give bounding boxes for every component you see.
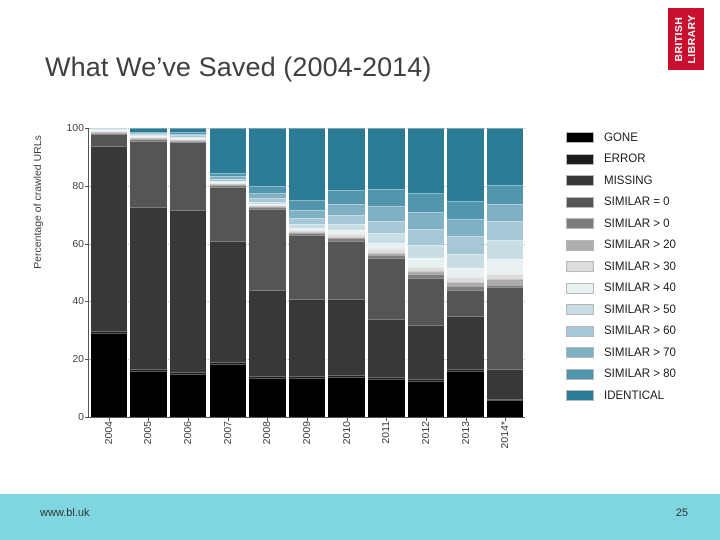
bar-column[interactable]: 2007	[208, 128, 248, 417]
bar-segment[interactable]	[408, 245, 444, 258]
legend-label: SIMILAR > 0	[604, 218, 670, 230]
stacked-bar-chart: Percentage of crawled URLs 020406080100 …	[0, 0, 720, 480]
legend-swatch	[566, 154, 594, 165]
legend-swatch	[566, 347, 594, 358]
bar-segment[interactable]	[408, 193, 444, 212]
bar-segment[interactable]	[289, 378, 325, 417]
legend-item[interactable]: ERROR	[566, 149, 676, 171]
stacked-bar[interactable]	[328, 128, 364, 417]
bar-segment[interactable]	[447, 316, 483, 369]
bar-segment[interactable]	[487, 185, 523, 203]
stacked-bar[interactable]	[368, 128, 404, 417]
legend-label: SIMILAR > 60	[604, 325, 676, 337]
footer-page-number: 25	[676, 507, 688, 519]
legend-item[interactable]: SIMILAR > 0	[566, 213, 676, 235]
y-tick-label: 20	[72, 353, 84, 365]
bar-segment[interactable]	[408, 258, 444, 267]
legend-item[interactable]: SIMILAR > 30	[566, 256, 676, 278]
bar-segment[interactable]	[210, 187, 246, 242]
bar-segment[interactable]	[368, 319, 404, 377]
legend-item[interactable]: SIMILAR > 20	[566, 235, 676, 257]
bar-column[interactable]: 2004	[89, 128, 129, 417]
bar-segment[interactable]	[91, 333, 127, 417]
bar-segment[interactable]	[170, 142, 206, 210]
legend-swatch	[566, 132, 594, 143]
bar-segment[interactable]	[289, 299, 325, 376]
bar-segment[interactable]	[328, 190, 364, 204]
bar-segment[interactable]	[447, 128, 483, 201]
bar-segment[interactable]	[328, 241, 364, 299]
bar-segment[interactable]	[91, 146, 127, 331]
bar-segment[interactable]	[368, 189, 404, 206]
bar-segment[interactable]	[487, 128, 523, 185]
stacked-bar[interactable]	[447, 128, 483, 417]
bar-column[interactable]: 2014*	[485, 128, 525, 417]
bar-segment[interactable]	[368, 258, 404, 319]
legend-item[interactable]: SIMILAR > 60	[566, 321, 676, 343]
bar-segment[interactable]	[408, 229, 444, 245]
bar-segment[interactable]	[289, 235, 325, 299]
bar-segment[interactable]	[487, 369, 523, 398]
bar-column[interactable]: 2006	[168, 128, 208, 417]
legend-item[interactable]: SIMILAR > 40	[566, 278, 676, 300]
bar-segment[interactable]	[91, 134, 127, 146]
legend-item[interactable]: MISSING	[566, 170, 676, 192]
legend-swatch	[566, 240, 594, 251]
bar-segment[interactable]	[447, 254, 483, 268]
bar-column[interactable]: 2008	[248, 128, 288, 417]
bar-segment[interactable]	[249, 128, 285, 186]
legend-label: SIMILAR > 70	[604, 347, 676, 359]
x-tick-label: 2008	[261, 421, 273, 444]
bar-segment[interactable]	[487, 287, 523, 369]
legend-label: SIMILAR > 50	[604, 304, 676, 316]
legend-item[interactable]: IDENTICAL	[566, 385, 676, 407]
bar-segment[interactable]	[328, 204, 364, 216]
bar-segment[interactable]	[249, 209, 285, 290]
bar-segment[interactable]	[447, 219, 483, 236]
bar-segment[interactable]	[328, 215, 364, 224]
bar-column[interactable]: 2013	[446, 128, 486, 417]
x-tick-label: 2004	[103, 421, 115, 444]
bar-segment[interactable]	[289, 128, 325, 199]
bar-segment[interactable]	[447, 371, 483, 417]
legend-label: SIMILAR > 30	[604, 261, 676, 273]
stacked-bar[interactable]	[408, 128, 444, 417]
legend-label: GONE	[604, 132, 638, 144]
bar-segment[interactable]	[408, 212, 444, 229]
footer-bar: www.bl.uk 25	[0, 494, 720, 540]
stacked-bar[interactable]	[249, 128, 285, 417]
bar-segment[interactable]	[487, 240, 523, 260]
bar-segment[interactable]	[408, 325, 444, 379]
bar-column[interactable]: 2011	[366, 128, 406, 417]
bar-segment[interactable]	[328, 377, 364, 417]
legend-label: IDENTICAL	[604, 390, 664, 402]
stacked-bar[interactable]	[170, 128, 206, 417]
bar-segment[interactable]	[447, 236, 483, 253]
legend-swatch	[566, 261, 594, 272]
bar-group: 2004200520062007200820092010201120122013…	[89, 128, 525, 417]
bar-segment[interactable]	[289, 210, 325, 218]
legend-item[interactable]: GONE	[566, 127, 676, 149]
stacked-bar[interactable]	[289, 128, 325, 417]
bar-segment[interactable]	[447, 268, 483, 277]
x-tick-label: 2012	[420, 421, 432, 444]
legend-label: SIMILAR > 80	[604, 368, 676, 380]
y-axis-label: Percentage of crawled URLs	[32, 102, 44, 302]
bar-segment[interactable]	[487, 259, 523, 274]
x-tick-label: 2005	[142, 421, 154, 444]
x-tick-label: 2014*	[499, 421, 511, 448]
bar-segment[interactable]	[408, 128, 444, 193]
bar-column[interactable]: 2012	[406, 128, 446, 417]
footer-url[interactable]: www.bl.uk	[40, 507, 90, 519]
legend-item[interactable]: SIMILAR > 50	[566, 299, 676, 321]
bar-segment[interactable]	[328, 299, 364, 375]
legend-label: MISSING	[604, 175, 653, 187]
y-tick-label: 100	[66, 122, 84, 134]
bar-segment[interactable]	[249, 378, 285, 417]
bar-segment[interactable]	[447, 290, 483, 316]
bar-column[interactable]: 2005	[129, 128, 169, 417]
stacked-bar[interactable]	[487, 128, 523, 417]
legend-swatch	[566, 218, 594, 229]
bar-segment[interactable]	[170, 210, 206, 372]
x-tick-label: 2007	[222, 421, 234, 444]
y-tick-label: 0	[78, 411, 84, 423]
bar-segment[interactable]	[447, 201, 483, 219]
bar-segment[interactable]	[368, 233, 404, 243]
legend-swatch	[566, 326, 594, 337]
bar-segment[interactable]	[368, 221, 404, 233]
bar-segment[interactable]	[249, 290, 285, 376]
bar-segment[interactable]	[289, 200, 325, 210]
bar-segment[interactable]	[328, 128, 364, 190]
legend-item[interactable]: SIMILAR = 0	[566, 192, 676, 214]
legend-swatch	[566, 197, 594, 208]
bar-segment[interactable]	[408, 381, 444, 417]
legend-item[interactable]: SIMILAR > 80	[566, 364, 676, 386]
legend-label: SIMILAR > 20	[604, 239, 676, 251]
legend-swatch	[566, 369, 594, 380]
legend-swatch	[566, 390, 594, 401]
bar-segment[interactable]	[130, 141, 166, 207]
y-tick-mark	[85, 417, 89, 418]
legend-swatch	[566, 304, 594, 315]
legend-swatch	[566, 283, 594, 294]
x-tick-label: 2009	[301, 421, 313, 444]
bar-segment[interactable]	[368, 128, 404, 189]
stacked-bar[interactable]	[130, 128, 166, 417]
bar-segment[interactable]	[487, 400, 523, 417]
bar-segment[interactable]	[368, 379, 404, 417]
y-tick-label: 60	[72, 238, 84, 250]
y-tick-label: 40	[72, 295, 84, 307]
bar-segment[interactable]	[487, 204, 523, 221]
bar-segment[interactable]	[130, 371, 166, 417]
plot-area: 020406080100 200420052006200720082009201…	[88, 128, 525, 418]
x-tick-label: 2011	[380, 421, 392, 444]
bar-segment[interactable]	[487, 221, 523, 239]
bar-segment[interactable]	[210, 364, 246, 417]
legend-swatch	[566, 175, 594, 186]
bar-segment[interactable]	[408, 278, 444, 324]
x-tick-label: 2010	[341, 421, 353, 444]
slide: BRITISH LIBRARY What We’ve Saved (2004-2…	[0, 0, 720, 540]
bar-column[interactable]: 2010	[327, 128, 367, 417]
bar-segment[interactable]	[170, 374, 206, 417]
legend-label: SIMILAR = 0	[604, 196, 670, 208]
legend-label: ERROR	[604, 153, 646, 165]
chart-legend: GONEERRORMISSINGSIMILAR = 0SIMILAR > 0SI…	[566, 127, 676, 407]
x-tick-label: 2006	[182, 421, 194, 444]
y-tick-label: 80	[72, 180, 84, 192]
x-tick-label: 2013	[460, 421, 472, 444]
bar-column[interactable]: 2009	[287, 128, 327, 417]
legend-item[interactable]: SIMILAR > 70	[566, 342, 676, 364]
stacked-bar[interactable]	[210, 128, 246, 417]
bar-segment[interactable]	[210, 241, 246, 361]
bar-segment[interactable]	[130, 207, 166, 369]
stacked-bar[interactable]	[91, 128, 127, 417]
bar-segment[interactable]	[368, 206, 404, 221]
legend-label: SIMILAR > 40	[604, 282, 676, 294]
bar-segment[interactable]	[210, 128, 246, 173]
bar-segment[interactable]	[249, 186, 285, 193]
